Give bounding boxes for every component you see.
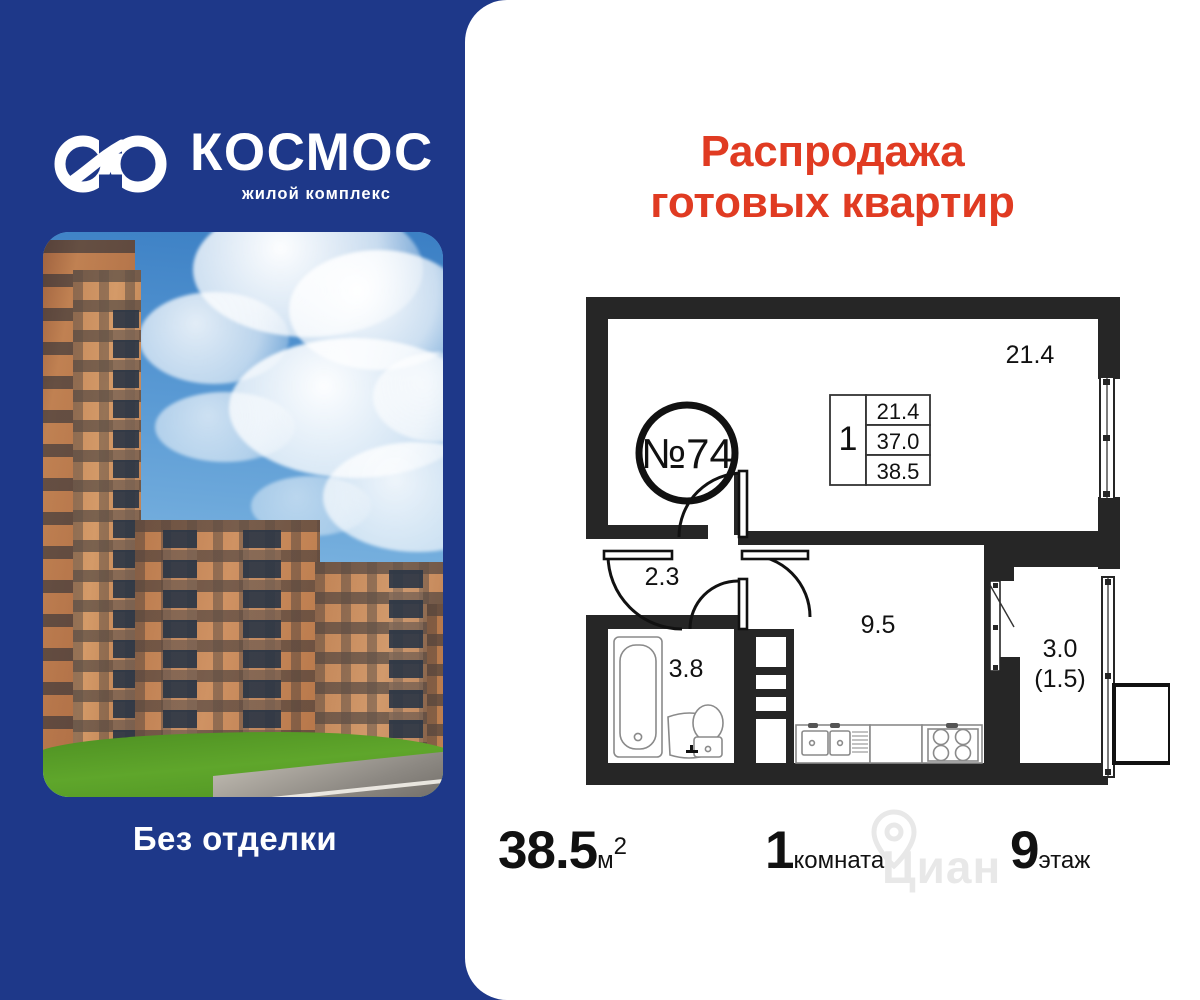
apartment-stats: 38.5м2 1комната 9этаж	[465, 812, 1200, 882]
shaft-divider	[752, 711, 790, 719]
wall-left-lower	[586, 615, 608, 785]
label-hallway: 2.3	[645, 563, 680, 591]
wall-bath-right	[734, 629, 748, 763]
wall-balcony-top	[984, 545, 1120, 567]
area-unit-exponent: 2	[614, 833, 627, 860]
wall-balcony-notch	[984, 567, 1014, 581]
kitchen-counter-mid	[870, 725, 922, 763]
stove-knob	[946, 723, 958, 728]
door-swing-kitchen	[748, 555, 810, 617]
wall-top	[586, 297, 1120, 319]
toilet-detail	[705, 746, 710, 751]
label-kitchen: 9.5	[861, 611, 896, 639]
sink-tap-kitchen-2	[830, 723, 840, 728]
door-leaf-entrance	[604, 551, 672, 559]
label-balcony: 3.0	[1043, 635, 1078, 663]
area-living: 21.4	[877, 399, 920, 424]
wall-living-bottom-left	[586, 525, 708, 539]
brand-name: КОСМОС	[190, 125, 434, 181]
balcony-strip	[243, 530, 281, 766]
shaft-divider	[752, 667, 790, 675]
balcony-strip	[389, 570, 423, 766]
door-leaf-living	[739, 471, 747, 537]
area-total: 37.0	[877, 429, 920, 454]
brand-logo: КОСМОС жилой комплекс	[52, 125, 442, 210]
label-balcony-coefficient: (1.5)	[1034, 665, 1085, 693]
page-title: Распродажа готовых квартир	[465, 126, 1200, 228]
stat-rooms: 1комната	[765, 820, 884, 881]
label-living-room: 21.4	[1006, 341, 1055, 369]
brand-tagline: жилой комплекс	[242, 185, 391, 204]
stat-area: 38.5м2	[498, 820, 627, 881]
stat-floor: 9этаж	[1010, 820, 1090, 881]
area-unit: м	[597, 847, 614, 874]
infinity-icon	[52, 133, 172, 195]
left-brand-panel: КОСМОС жилой комплекс	[0, 0, 470, 1000]
burner	[956, 746, 971, 761]
burner	[956, 730, 971, 745]
rooms-value: 1	[765, 821, 793, 880]
residential-complex-photo	[43, 232, 443, 797]
floor-plan: №74 1 21.4 37.0 38.5 21.4 2.3 3.8 9.5 3.…	[490, 285, 1170, 785]
rooms-label: комната	[793, 847, 884, 874]
wall-right-upper-a	[1098, 297, 1120, 379]
balcony-strip	[163, 530, 197, 766]
headline-line-1: Распродажа	[465, 126, 1200, 177]
floor-plan-drawing: №74 1 21.4 37.0 38.5 21.4 2.3 3.8 9.5 3.…	[490, 285, 1170, 785]
balcony-door-leaf	[1114, 685, 1170, 763]
toilet-bowl	[693, 705, 723, 741]
sink-tap-kitchen	[808, 723, 818, 728]
floor-label: этаж	[1038, 847, 1090, 874]
building-tower-face	[73, 270, 141, 762]
shaft-divider	[752, 689, 790, 697]
area-with-balcony: 38.5	[877, 459, 920, 484]
rooms-count: 1	[839, 420, 858, 458]
burner	[934, 730, 949, 745]
area-value: 38.5	[498, 821, 597, 880]
wall-balcony-bottom	[998, 763, 1108, 785]
label-bathroom: 3.8	[669, 655, 704, 683]
cloud	[155, 392, 295, 462]
wall-living-bottom-mid	[738, 531, 824, 545]
floor-value: 9	[1010, 821, 1038, 880]
wall-left-upper	[586, 297, 608, 537]
apartment-number: №74	[641, 430, 733, 477]
wall-living-bottom-right	[824, 531, 1098, 545]
photo-caption: Без отделки	[0, 820, 470, 858]
headline-line-2: готовых квартир	[465, 177, 1200, 228]
bathtub-drain	[634, 733, 641, 740]
door-leaf-kitchen	[742, 551, 808, 559]
door-leaf-bathroom	[739, 579, 747, 629]
wall-bottom	[586, 763, 998, 785]
content-card: Распродажа готовых квартир	[465, 0, 1200, 1000]
burner	[934, 746, 949, 761]
